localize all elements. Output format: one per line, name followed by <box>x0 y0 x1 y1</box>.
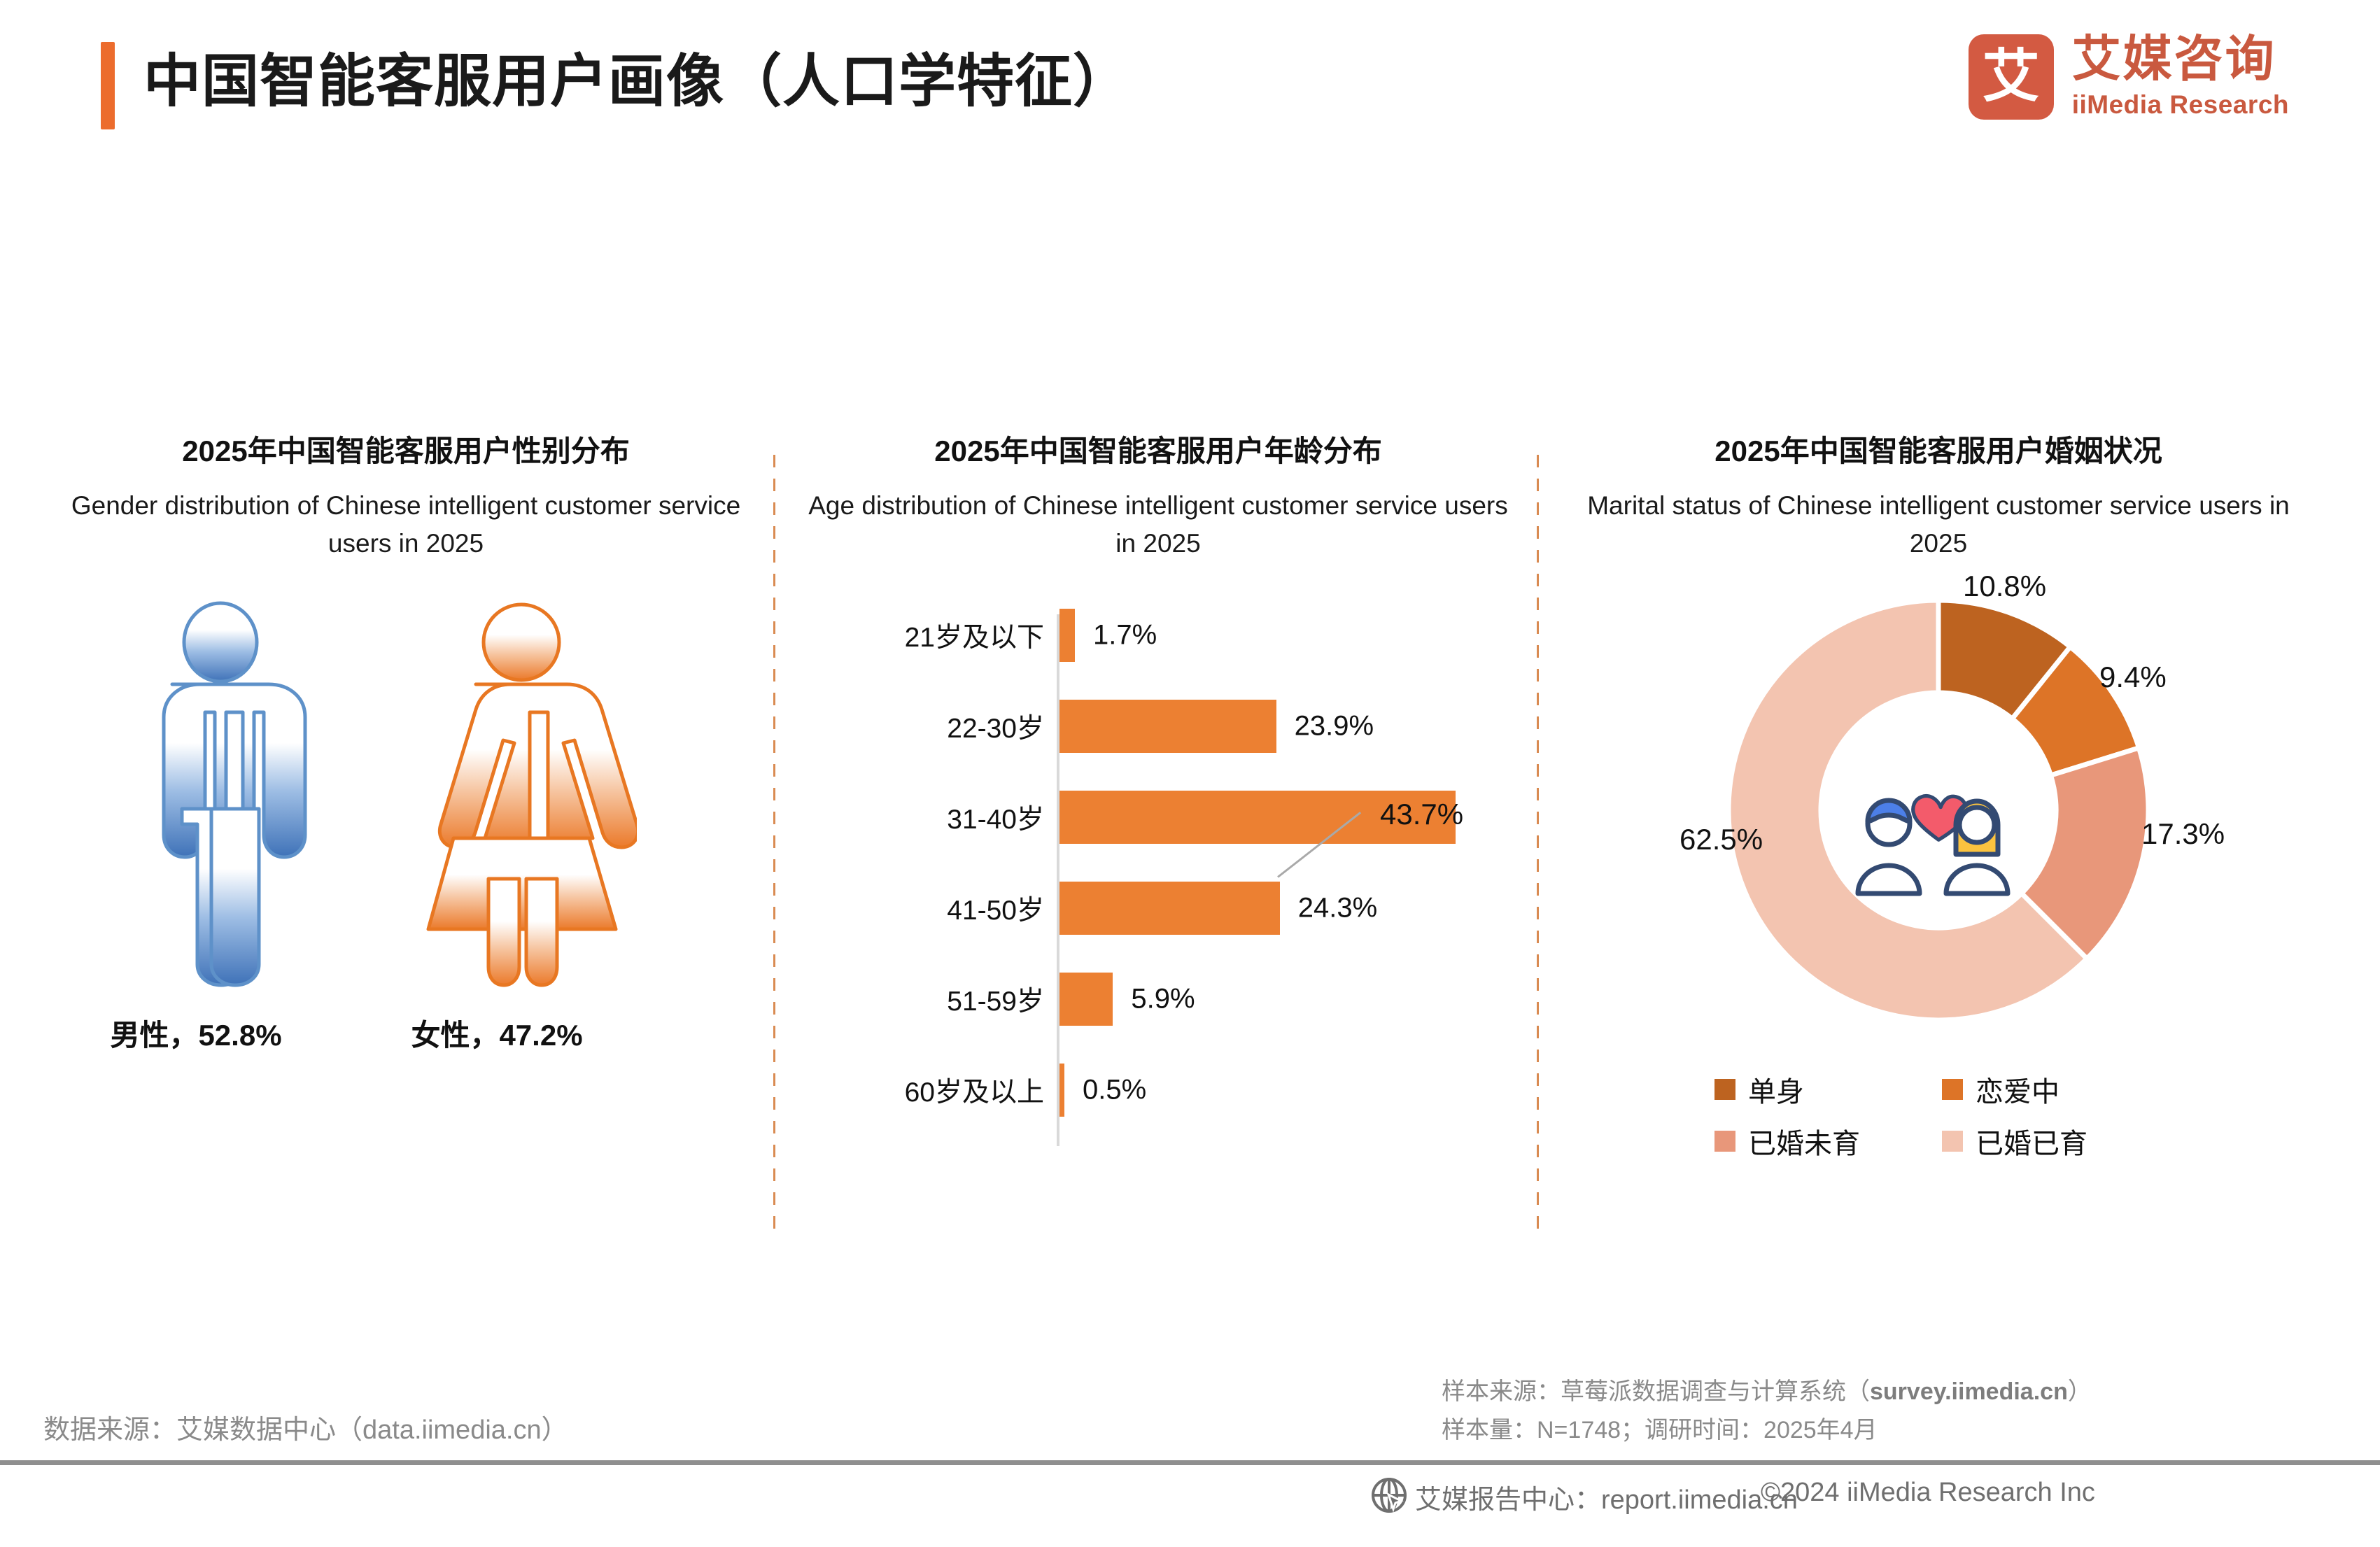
legend-swatch-icon <box>1714 1079 1735 1100</box>
female-figure-icon <box>406 599 637 994</box>
report-center-link[interactable]: 艾媒报告中心：report.iimedia.cn <box>1415 1478 1798 1516</box>
bar-category-label: 51-59岁 <box>947 980 1044 1019</box>
sample-source-suffix: ） <box>2068 1378 2092 1405</box>
logo-mark-icon: 艾 <box>1969 34 2054 120</box>
bar-row: 51-59岁5.9% <box>784 968 1533 1030</box>
male-figure-icon <box>105 599 336 994</box>
bar-segment[interactable] <box>1059 609 1075 662</box>
infographic-page: 中国智能客服用户画像（人口学特征） 艾 艾媒咨询 iiMedia Researc… <box>0 0 2380 1547</box>
logo-text: 艾媒咨询 iiMedia Research <box>2072 34 2289 120</box>
bar-category-label: 22-30岁 <box>947 707 1044 746</box>
page-title: 中国智能客服用户画像（人口学特征） <box>143 41 1131 124</box>
bar-value-label: 5.9% <box>1131 983 1195 1015</box>
logo-english-name: iiMedia Research <box>2072 90 2289 120</box>
marital-panel-title: 2025年中国智能客服用户婚姻状况 <box>1547 434 2330 469</box>
sample-source-link[interactable]: survey.iimedia.cn <box>1870 1378 2068 1405</box>
sample-source-line: 样本来源：草莓派数据调查与计算系统（survey.iimedia.cn） <box>1442 1373 2092 1411</box>
bar-category-label: 60岁及以上 <box>905 1071 1044 1110</box>
legend-label: 单身 <box>1748 1069 1804 1110</box>
marital-panel-subtitle: Marital status of Chinese intelligent cu… <box>1547 487 2330 562</box>
bar-chart-axis <box>1057 614 1059 1146</box>
sample-source-block: 样本来源：草莓派数据调查与计算系统（survey.iimedia.cn） 样本量… <box>1442 1373 2092 1450</box>
panel-age-distribution: 2025年中国智能客服用户年龄分布 Age distribution of Ch… <box>784 434 1533 1259</box>
data-source-note: 数据来源：艾媒数据中心（data.iimedia.cn） <box>43 1408 568 1446</box>
bar-category-label: 31-40岁 <box>947 798 1044 837</box>
bar-segment[interactable] <box>1059 973 1113 1026</box>
gender-panel-subtitle: Gender distribution of Chinese intellige… <box>42 487 770 562</box>
page-header: 中国智能客服用户画像（人口学特征） 艾 艾媒咨询 iiMedia Researc… <box>0 0 2380 182</box>
bar-category-label: 41-50岁 <box>947 889 1044 928</box>
marital-donut-chart: 10.8% 9.4% 17.3% 62.5% 单身恋爱中已婚未育已婚已育 <box>1547 586 2330 1146</box>
bar-segment[interactable] <box>1059 1064 1064 1117</box>
globe-cursor-icon <box>1370 1476 1408 1518</box>
panel-divider-1 <box>773 455 775 1231</box>
bar-row: 60岁及以上0.5% <box>784 1059 1533 1121</box>
gender-pictogram-chart: 男性，52.8% 女性，47.2% <box>42 599 770 1075</box>
legend-item[interactable]: 恋爱中 <box>1942 1069 2162 1110</box>
legend-label: 已婚已育 <box>1976 1121 2087 1161</box>
donut-value-label-3: 62.5% <box>1680 823 1763 856</box>
bar-value-label: 23.9% <box>1295 710 1374 742</box>
footer-bar: 艾媒报告中心：report.iimedia.cn ©2024 iiMedia R… <box>0 1471 2380 1534</box>
panel-gender-distribution: 2025年中国智能客服用户性别分布 Gender distribution of… <box>42 434 770 1259</box>
page-footer: 数据来源：艾媒数据中心（data.iimedia.cn） 样本来源：草莓派数据调… <box>0 1364 2380 1547</box>
copyright-text: ©2024 iiMedia Research Inc <box>1761 1478 2095 1508</box>
donut-value-label-1: 9.4% <box>2099 661 2167 694</box>
bar-category-label: 21岁及以下 <box>905 616 1044 655</box>
legend-item[interactable]: 已婚已育 <box>1942 1121 2162 1161</box>
male-label: 男性，52.8% <box>49 1012 343 1054</box>
age-bar-chart: 60岁及以上0.5%51-59岁5.9%41-50岁24.3%31-40岁22-… <box>784 602 1533 1154</box>
bar-segment[interactable] <box>1059 700 1276 753</box>
bar-segment[interactable] <box>1059 882 1280 935</box>
age-callout-label: 43.7% <box>1380 798 1463 831</box>
donut-legend: 单身恋爱中已婚未育已婚已育 <box>1714 1069 2162 1161</box>
age-panel-title: 2025年中国智能客服用户年龄分布 <box>784 434 1533 469</box>
legend-swatch-icon <box>1942 1079 1963 1100</box>
legend-label: 恋爱中 <box>1976 1069 2059 1110</box>
panel-divider-2 <box>1537 455 1539 1231</box>
donut-value-label-2: 17.3% <box>2141 817 2225 851</box>
logo-chinese-name: 艾媒咨询 <box>2072 34 2289 85</box>
legend-swatch-icon <box>1714 1131 1735 1152</box>
legend-item[interactable]: 已婚未育 <box>1714 1121 1935 1161</box>
gender-panel-title: 2025年中国智能客服用户性别分布 <box>42 434 770 469</box>
bar-row: 21岁及以下1.7% <box>784 605 1533 666</box>
female-label: 女性，47.2% <box>350 1012 644 1054</box>
sample-source-prefix: 样本来源：草莓派数据调查与计算系统（ <box>1442 1378 1870 1405</box>
bar-value-label: 24.3% <box>1298 892 1377 924</box>
brand-logo: 艾 艾媒咨询 iiMedia Research <box>1969 34 2289 120</box>
bar-value-label: 1.7% <box>1093 619 1157 651</box>
couple-heart-icon <box>1837 774 2040 900</box>
panels-container: 2025年中国智能客服用户性别分布 Gender distribution of… <box>0 434 2380 1259</box>
footer-divider <box>0 1460 2380 1465</box>
legend-item[interactable]: 单身 <box>1714 1069 1935 1110</box>
panel-marital-status: 2025年中国智能客服用户婚姻状况 Marital status of Chin… <box>1547 434 2330 1259</box>
male-avatar-icon <box>1858 800 1920 893</box>
title-accent-bar <box>101 42 115 129</box>
female-avatar-icon <box>1946 801 2008 893</box>
bar-value-label: 0.5% <box>1083 1074 1146 1105</box>
bar-row: 22-30岁23.9% <box>784 695 1533 757</box>
legend-swatch-icon <box>1942 1131 1963 1152</box>
bar-row: 41-50岁24.3% <box>784 877 1533 939</box>
age-panel-subtitle: Age distribution of Chinese intelligent … <box>784 487 1533 562</box>
donut-value-label-0: 10.8% <box>1963 570 2046 603</box>
sample-size-line: 样本量：N=1748；调研时间：2025年4月 <box>1442 1411 2092 1450</box>
legend-label: 已婚未育 <box>1748 1121 1860 1161</box>
